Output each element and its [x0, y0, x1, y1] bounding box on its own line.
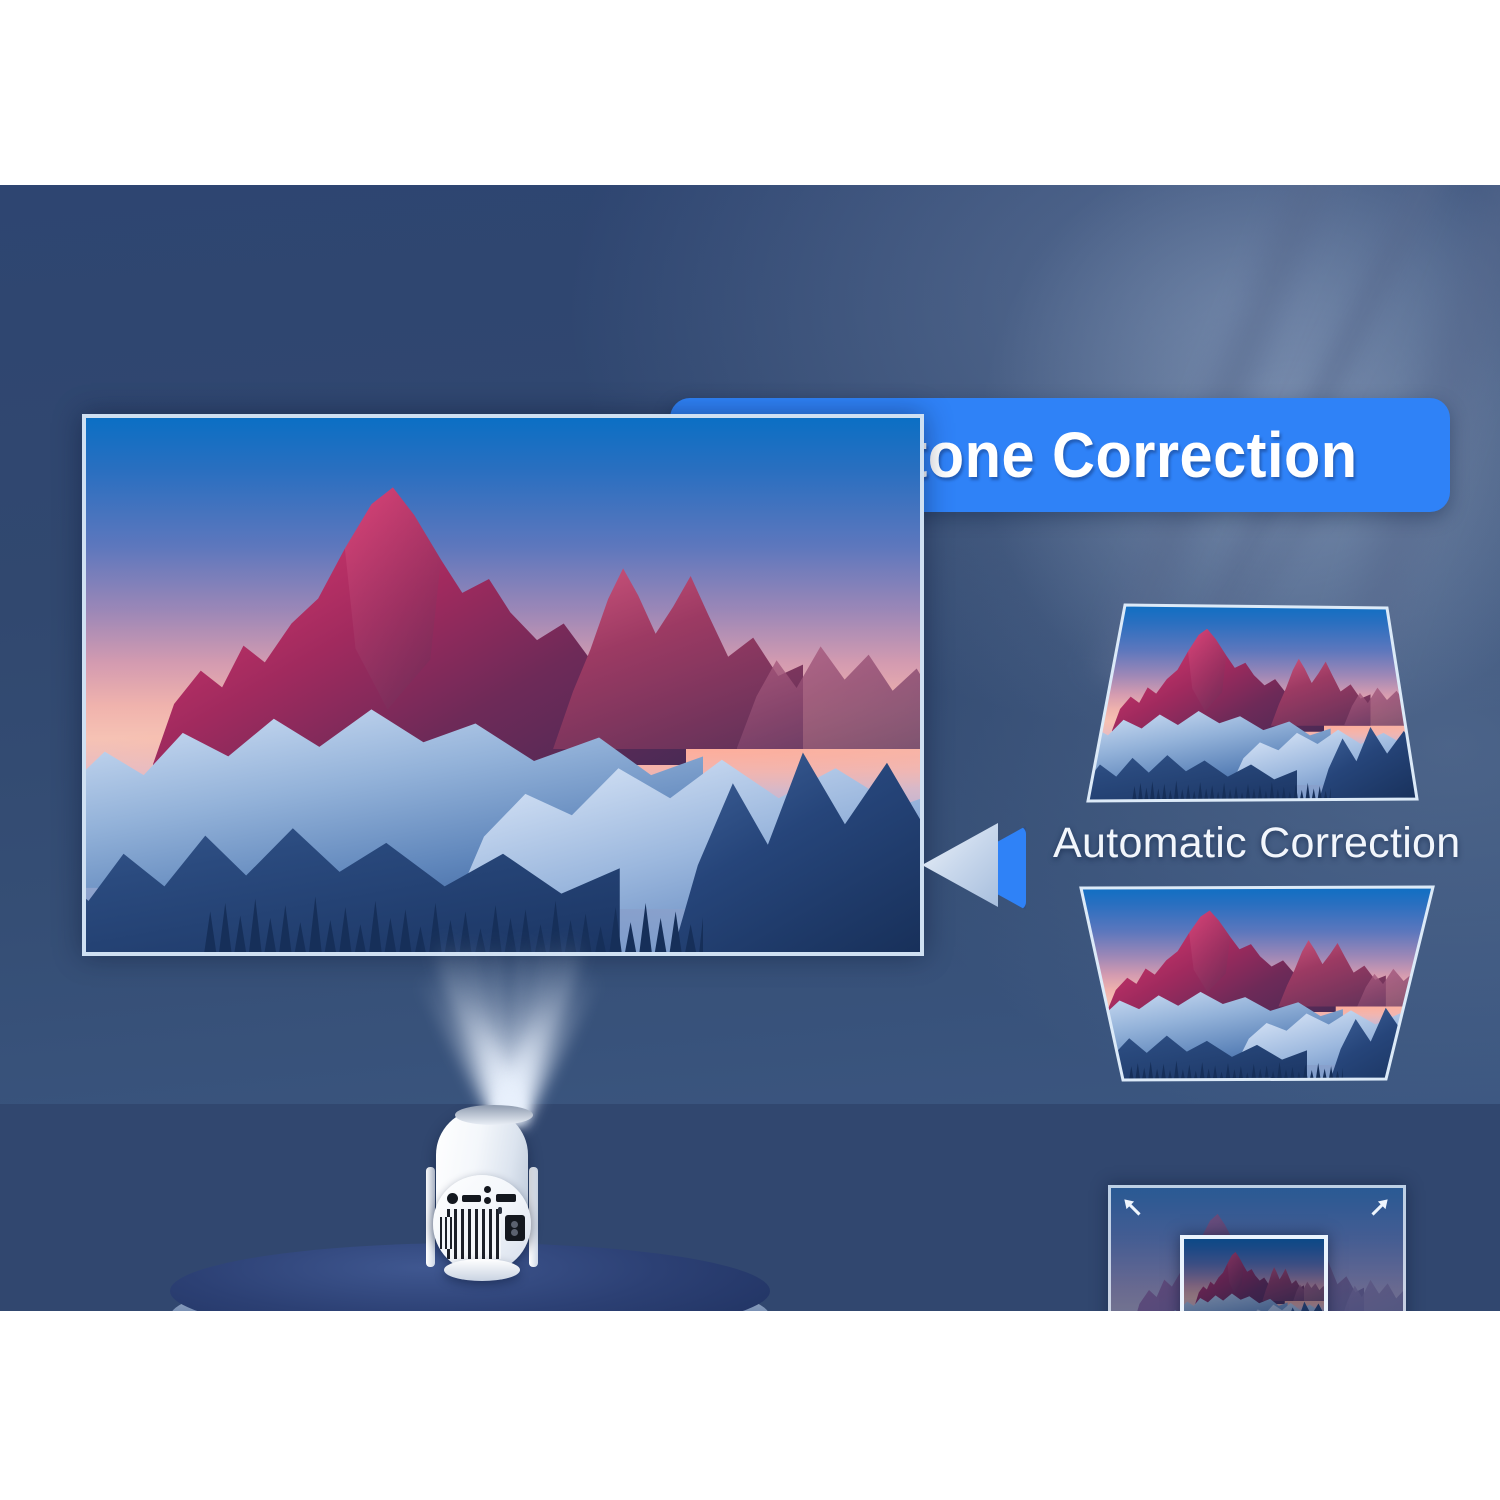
zoom-inner-frame	[1180, 1235, 1328, 1311]
ir-dot-icon	[484, 1197, 491, 1204]
vent-grille-small	[440, 1217, 452, 1249]
reset-dot-icon	[484, 1186, 491, 1193]
keystone-skewed-panel	[1085, 603, 1417, 801]
power-socket-icon	[505, 1215, 525, 1241]
zoom-panel	[1108, 1185, 1406, 1311]
projector-lens-ring	[455, 1105, 533, 1125]
main-projection-screen	[82, 414, 924, 956]
automatic-correction-label: Automatic Correction	[1053, 819, 1461, 868]
vent-grille	[447, 1209, 501, 1259]
mountain-artwork	[1078, 885, 1436, 1081]
photo-plate: Keystone Correction	[0, 185, 1500, 1311]
zoom-inward-arrow-icon	[1366, 1195, 1392, 1221]
keystone-trapezoid-panel	[1078, 885, 1436, 1081]
audio-jack-port-icon	[447, 1193, 458, 1204]
usb-port-icon	[496, 1194, 516, 1202]
projector-base	[444, 1259, 520, 1281]
left-pointing-arrow-icon	[922, 823, 1026, 913]
mountain-artwork	[1184, 1239, 1324, 1311]
projector-device	[424, 1109, 540, 1289]
product-marketing-image: Keystone Correction	[0, 0, 1500, 1500]
hdmi-port-icon	[462, 1195, 481, 1202]
zoom-inward-arrow-icon	[1120, 1195, 1146, 1221]
arrow-front-layer	[922, 823, 998, 907]
mountain-artwork	[86, 418, 920, 952]
led-indicator-icon	[498, 1207, 502, 1214]
mountain-artwork	[1085, 603, 1417, 801]
